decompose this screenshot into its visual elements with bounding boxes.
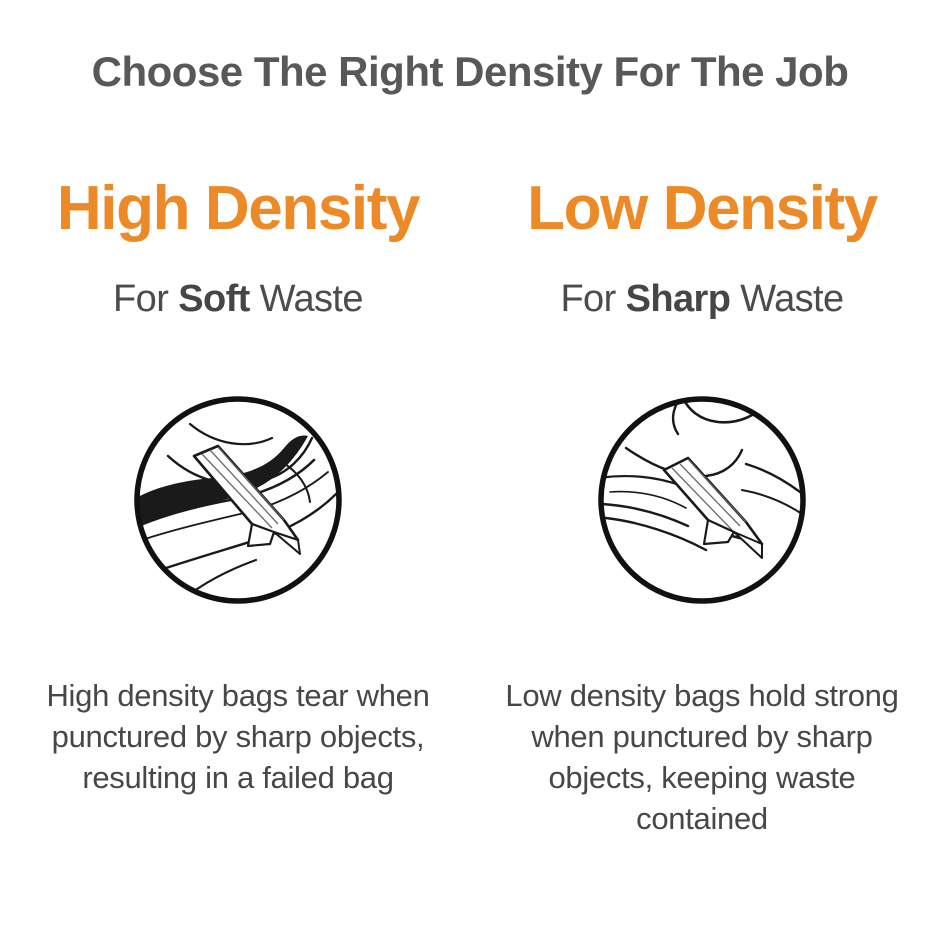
bag-torn-by-sharp-object-icon — [132, 394, 344, 606]
high-density-heading: High Density — [57, 178, 419, 240]
low-density-illustration — [596, 394, 808, 606]
low-density-heading: Low Density — [527, 178, 877, 240]
column-low-density: Low Density For Sharp Waste — [470, 178, 940, 840]
subtitle-suffix: Waste — [730, 278, 843, 320]
density-comparison-infographic: Choose The Right Density For The Job Hig… — [0, 0, 940, 940]
high-density-caption: High density bags tear when punctured by… — [28, 676, 448, 799]
column-high-density: High Density For Soft Waste — [0, 178, 470, 799]
low-density-subtitle: For Sharp Waste — [560, 280, 843, 318]
subtitle-emphasis: Sharp — [626, 278, 731, 320]
high-density-subtitle: For Soft Waste — [113, 280, 363, 318]
subtitle-suffix: Waste — [250, 278, 363, 320]
low-density-caption: Low density bags hold strong when punctu… — [482, 676, 922, 840]
subtitle-emphasis: Soft — [178, 278, 249, 320]
subtitle-prefix: For — [560, 278, 625, 320]
high-density-illustration — [132, 394, 344, 606]
comparison-columns: High Density For Soft Waste — [0, 178, 940, 840]
bag-holding-sharp-object-icon — [596, 394, 808, 606]
subtitle-prefix: For — [113, 278, 178, 320]
page-title: Choose The Right Density For The Job — [0, 48, 940, 95]
